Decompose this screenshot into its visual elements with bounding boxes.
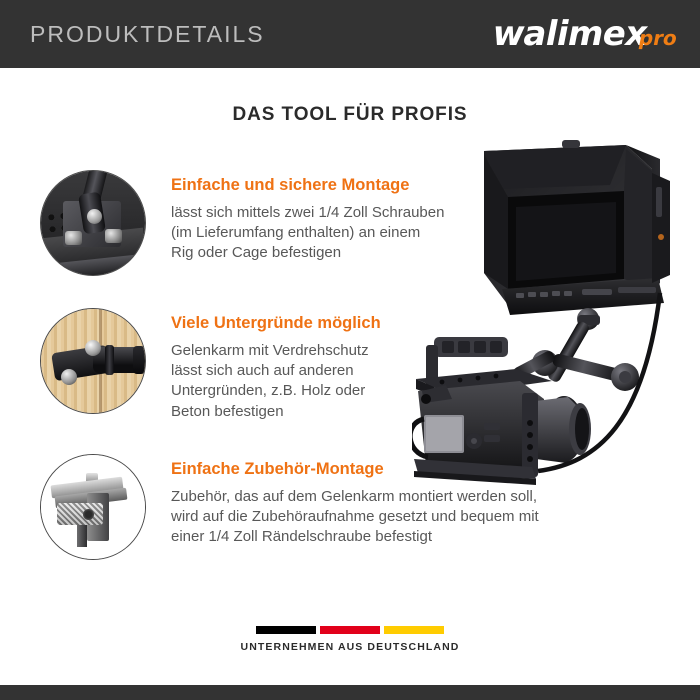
flag-bar-red: [320, 626, 380, 634]
german-flag-icon: [256, 626, 444, 634]
page-title: PRODUKTDETAILS: [30, 21, 265, 48]
content-stage: DAS TOOL FÜR PROFIS: [0, 68, 700, 685]
feature-body: Zubehör, das auf dem Gelenkarm montiert …: [171, 487, 539, 548]
clamp-on-rig-plate-thumbnail: [40, 170, 146, 276]
footer-caption: UNTERNEHMEN AUS DEUTSCHLAND: [241, 641, 460, 653]
bottom-bar: [0, 685, 700, 700]
section-headline: DAS TOOL FÜR PROFIS: [0, 104, 700, 126]
feature-item: Viele Untergründe möglich Gelenkarm mit …: [40, 308, 660, 422]
feature-body: Gelenkarm mit Verdrehschutz lässt sich a…: [171, 341, 381, 422]
flag-bar-gold: [384, 626, 444, 634]
brand-name-text: walimex: [490, 17, 650, 51]
feature-body: lässt sich mittels zwei 1/4 Zoll Schraub…: [171, 203, 444, 264]
walimex-pro-logo: walimex pro: [490, 17, 681, 51]
page-header: PRODUKTDETAILS walimex pro: [0, 0, 700, 68]
feature-item: Einfache Zubehör-Montage Zubehör, das au…: [40, 454, 660, 560]
flag-bar-black: [256, 626, 316, 634]
feature-heading: Viele Untergründe möglich: [171, 314, 381, 334]
brand-suffix-text: pro: [637, 28, 679, 48]
arm-on-wood-thumbnail: [40, 308, 146, 414]
feature-text-block: Einfache Zubehör-Montage Zubehör, das au…: [171, 454, 539, 548]
feature-item: Einfache und sichere Montage lässt sich …: [40, 170, 660, 276]
feature-heading: Einfache Zubehör-Montage: [171, 460, 539, 480]
feature-text-block: Viele Untergründe möglich Gelenkarm mit …: [171, 308, 381, 422]
made-in-germany-badge: UNTERNEHMEN AUS DEUTSCHLAND: [0, 626, 700, 653]
feature-heading: Einfache und sichere Montage: [171, 176, 444, 196]
feature-list: Einfache und sichere Montage lässt sich …: [40, 170, 660, 592]
chrome-clamp-thumbnail: [40, 454, 146, 560]
feature-text-block: Einfache und sichere Montage lässt sich …: [171, 170, 444, 264]
